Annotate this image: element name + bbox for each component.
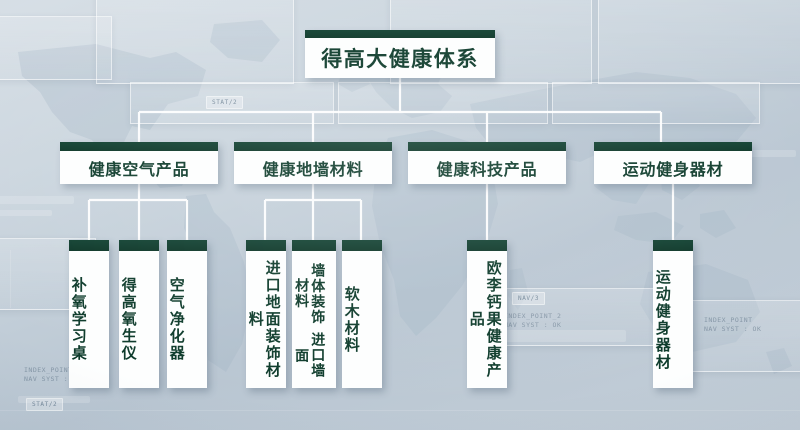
node-leaf-label: 进口地面装饰材料 — [246, 251, 280, 390]
node-branch-sports-fitness[interactable]: 运动健身器材 — [594, 142, 752, 184]
node-leaf-label: 运动健身器材 — [653, 251, 670, 390]
node-cap — [408, 142, 566, 151]
node-cap — [342, 240, 382, 251]
node-branch-label: 健康空气产品 — [60, 151, 218, 184]
node-cap — [60, 142, 218, 151]
node-leaf-label-secondary: 墙体装饰材料 — [294, 257, 326, 331]
node-leaf-label: 软木材料 — [342, 251, 359, 390]
node-cap — [305, 30, 495, 38]
node-root[interactable]: 得高大健康体系 — [305, 30, 495, 78]
node-cap — [234, 142, 392, 151]
node-cap — [69, 240, 109, 251]
node-leaf-fitness-equipment[interactable]: 运动健身器材 — [653, 240, 693, 388]
node-leaf-imported-floor-material[interactable]: 进口地面装饰材料 — [246, 240, 286, 388]
node-cap — [167, 240, 207, 251]
node-cap — [292, 240, 336, 251]
node-leaf-label: 欧李钙果健康产品 — [467, 251, 501, 390]
node-branch-health-tech[interactable]: 健康科技产品 — [408, 142, 566, 184]
node-leaf-label: 进口墙面 — [294, 331, 326, 380]
node-branch-health-air[interactable]: 健康空气产品 — [60, 142, 218, 184]
node-leaf-imported-wall-material[interactable]: 墙体装饰材料 进口墙面 — [292, 240, 336, 388]
node-leaf-label: 空气净化器 — [167, 251, 184, 390]
node-leaf-label-group: 墙体装饰材料 进口墙面 — [292, 251, 326, 390]
diagram-canvas: INDEX_POINT NAV SYST : OK INDEX_POINT_2 … — [0, 0, 800, 430]
node-leaf-air-purifier[interactable]: 空气净化器 — [167, 240, 207, 388]
node-leaf-oxygen-desk[interactable]: 补氧学习桌 — [69, 240, 109, 388]
node-branch-label: 健康科技产品 — [408, 151, 566, 184]
node-branch-label: 运动健身器材 — [594, 151, 752, 184]
node-leaf-label: 得高氧生仪 — [119, 251, 136, 390]
node-leaf-oulee-calcium-fruit[interactable]: 欧李钙果健康产品 — [467, 240, 507, 388]
node-root-label: 得高大健康体系 — [305, 38, 495, 77]
node-cap — [246, 240, 286, 251]
node-cap — [119, 240, 159, 251]
node-cap — [653, 240, 693, 251]
node-leaf-cork-material[interactable]: 软木材料 — [342, 240, 382, 388]
node-branch-label: 健康地墙材料 — [234, 151, 392, 184]
node-cap — [594, 142, 752, 151]
node-cap — [467, 240, 507, 251]
node-leaf-oxygen-generator[interactable]: 得高氧生仪 — [119, 240, 159, 388]
node-leaf-label: 补氧学习桌 — [69, 251, 86, 390]
node-branch-floor-wall-material[interactable]: 健康地墙材料 — [234, 142, 392, 184]
